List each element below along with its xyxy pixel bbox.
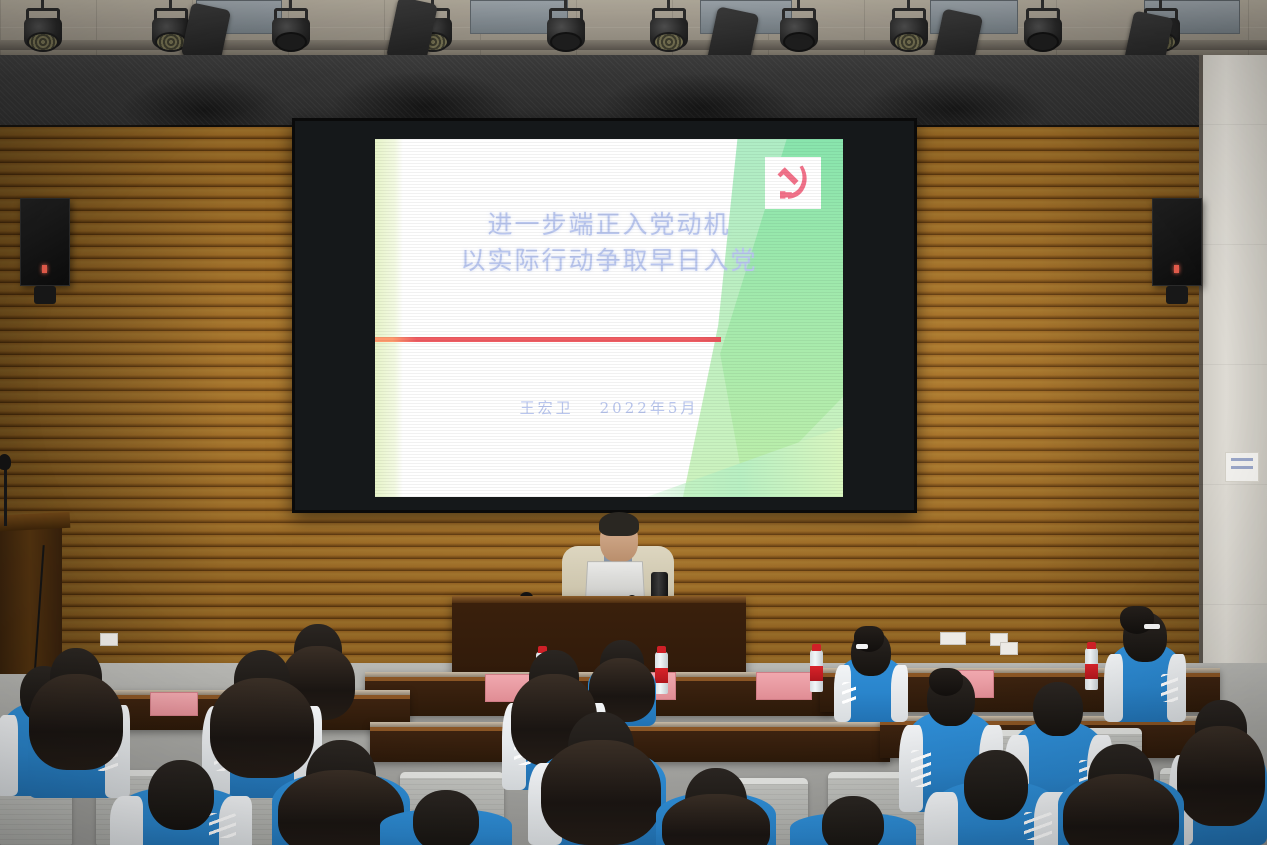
par-can-7-icon bbox=[778, 8, 820, 52]
light-lens bbox=[655, 34, 683, 50]
student bbox=[28, 648, 124, 798]
slide-title-line-1: 进一步端正入党动机 bbox=[375, 207, 843, 243]
student bbox=[536, 712, 666, 845]
student-hair bbox=[662, 794, 770, 845]
student-head bbox=[964, 750, 1028, 820]
student-hair bbox=[1063, 774, 1179, 845]
water-bottle bbox=[655, 652, 668, 694]
bottle-cap bbox=[812, 644, 821, 651]
student-ponytail bbox=[929, 668, 963, 696]
light-lens bbox=[277, 34, 305, 50]
light-lens bbox=[785, 34, 813, 50]
par-can-9-icon bbox=[1022, 8, 1064, 52]
speaker-power-led bbox=[1174, 265, 1179, 273]
student bbox=[1058, 744, 1184, 845]
student-head bbox=[822, 796, 884, 845]
hair-clip bbox=[856, 644, 868, 649]
wall-speaker-right bbox=[1152, 198, 1202, 286]
student bbox=[838, 630, 904, 722]
student bbox=[1175, 700, 1267, 845]
head-table-edge bbox=[452, 596, 746, 603]
presentation-slide: 进一步端正入党动机 以实际行动争取早日入党 王宏卫2022年5月 bbox=[375, 139, 843, 497]
hair-clip bbox=[1144, 624, 1160, 629]
bottle-cap bbox=[657, 646, 666, 653]
cpc-hammer-sickle-emblem bbox=[765, 157, 821, 209]
wall-outlet bbox=[940, 632, 966, 645]
slide-title: 进一步端正入党动机 以实际行动争取早日入党 bbox=[375, 207, 843, 278]
slide-left-accent-band bbox=[375, 139, 403, 497]
screen-inner-bezel: 进一步端正入党动机 以实际行动争取早日入党 王宏卫2022年5月 bbox=[295, 121, 914, 510]
student bbox=[656, 768, 776, 845]
student bbox=[1108, 612, 1182, 722]
student-sleeve-stripes bbox=[911, 750, 931, 786]
gooseneck-microphone-stem bbox=[4, 462, 7, 526]
led-display-screen[interactable]: 进一步端正入党动机 以实际行动争取早日入党 王宏卫2022年5月 bbox=[292, 118, 917, 513]
student-hair bbox=[1177, 726, 1265, 826]
speaker-power-led bbox=[42, 265, 47, 273]
lecture-hall-photo: 进一步端正入党动机 以实际行动争取早日入党 王宏卫2022年5月 bbox=[0, 0, 1267, 845]
student-sleeve-stripes bbox=[1024, 812, 1052, 841]
light-lens bbox=[157, 34, 185, 50]
gooseneck-microphone-icon bbox=[0, 454, 11, 470]
student-sleeve bbox=[110, 796, 143, 845]
light-lens bbox=[29, 34, 57, 50]
slide-divider-rule bbox=[375, 337, 721, 342]
upper-acoustic-band bbox=[0, 55, 1267, 127]
presenter-name: 王宏卫 bbox=[520, 399, 574, 417]
wall-speaker-left-mount bbox=[34, 286, 56, 304]
bottle-label bbox=[655, 668, 668, 683]
wall-speaker-left bbox=[20, 198, 70, 286]
student-sleeve bbox=[1104, 654, 1123, 722]
student bbox=[380, 790, 512, 845]
wall-sign bbox=[1225, 452, 1259, 482]
par-can-6-icon bbox=[648, 8, 690, 52]
student-head bbox=[148, 760, 214, 830]
par-can-5-icon bbox=[545, 8, 587, 52]
student bbox=[790, 796, 916, 845]
presentation-date: 2022年5月 bbox=[600, 399, 699, 417]
student-head bbox=[1033, 682, 1083, 736]
bottle-cap bbox=[1087, 642, 1096, 649]
lectern-top bbox=[0, 512, 70, 532]
student-sleeve bbox=[924, 792, 957, 845]
student-sleeve-stripes bbox=[842, 682, 857, 706]
slide-byline: 王宏卫2022年5月 bbox=[375, 397, 843, 418]
student-sleeve-stripes bbox=[209, 813, 237, 838]
student bbox=[932, 750, 1060, 845]
bottle-label bbox=[1085, 664, 1098, 679]
light-lens bbox=[552, 34, 580, 50]
student-sleeve bbox=[0, 715, 18, 796]
wall-outlet bbox=[100, 633, 118, 646]
student-head bbox=[413, 790, 479, 845]
wall-speaker-right-mount bbox=[1166, 286, 1188, 304]
light-lens bbox=[1029, 34, 1057, 50]
slide-title-line-2: 以实际行动争取早日入党 bbox=[375, 243, 843, 279]
bottle-label bbox=[810, 666, 823, 681]
student-hair bbox=[541, 740, 661, 845]
wall-outlet bbox=[1000, 642, 1018, 655]
student-ponytail bbox=[1120, 606, 1154, 634]
par-can-8-icon bbox=[888, 8, 930, 52]
water-bottle bbox=[810, 650, 823, 692]
par-can-3-icon bbox=[270, 8, 312, 52]
student-sleeve-stripes bbox=[1161, 674, 1177, 703]
student-hair bbox=[29, 674, 123, 770]
par-can-1-icon bbox=[22, 8, 64, 52]
presenter-hair bbox=[599, 512, 639, 536]
name-card bbox=[150, 692, 198, 716]
student bbox=[118, 760, 244, 845]
name-card bbox=[756, 672, 812, 700]
light-lens bbox=[895, 34, 923, 50]
